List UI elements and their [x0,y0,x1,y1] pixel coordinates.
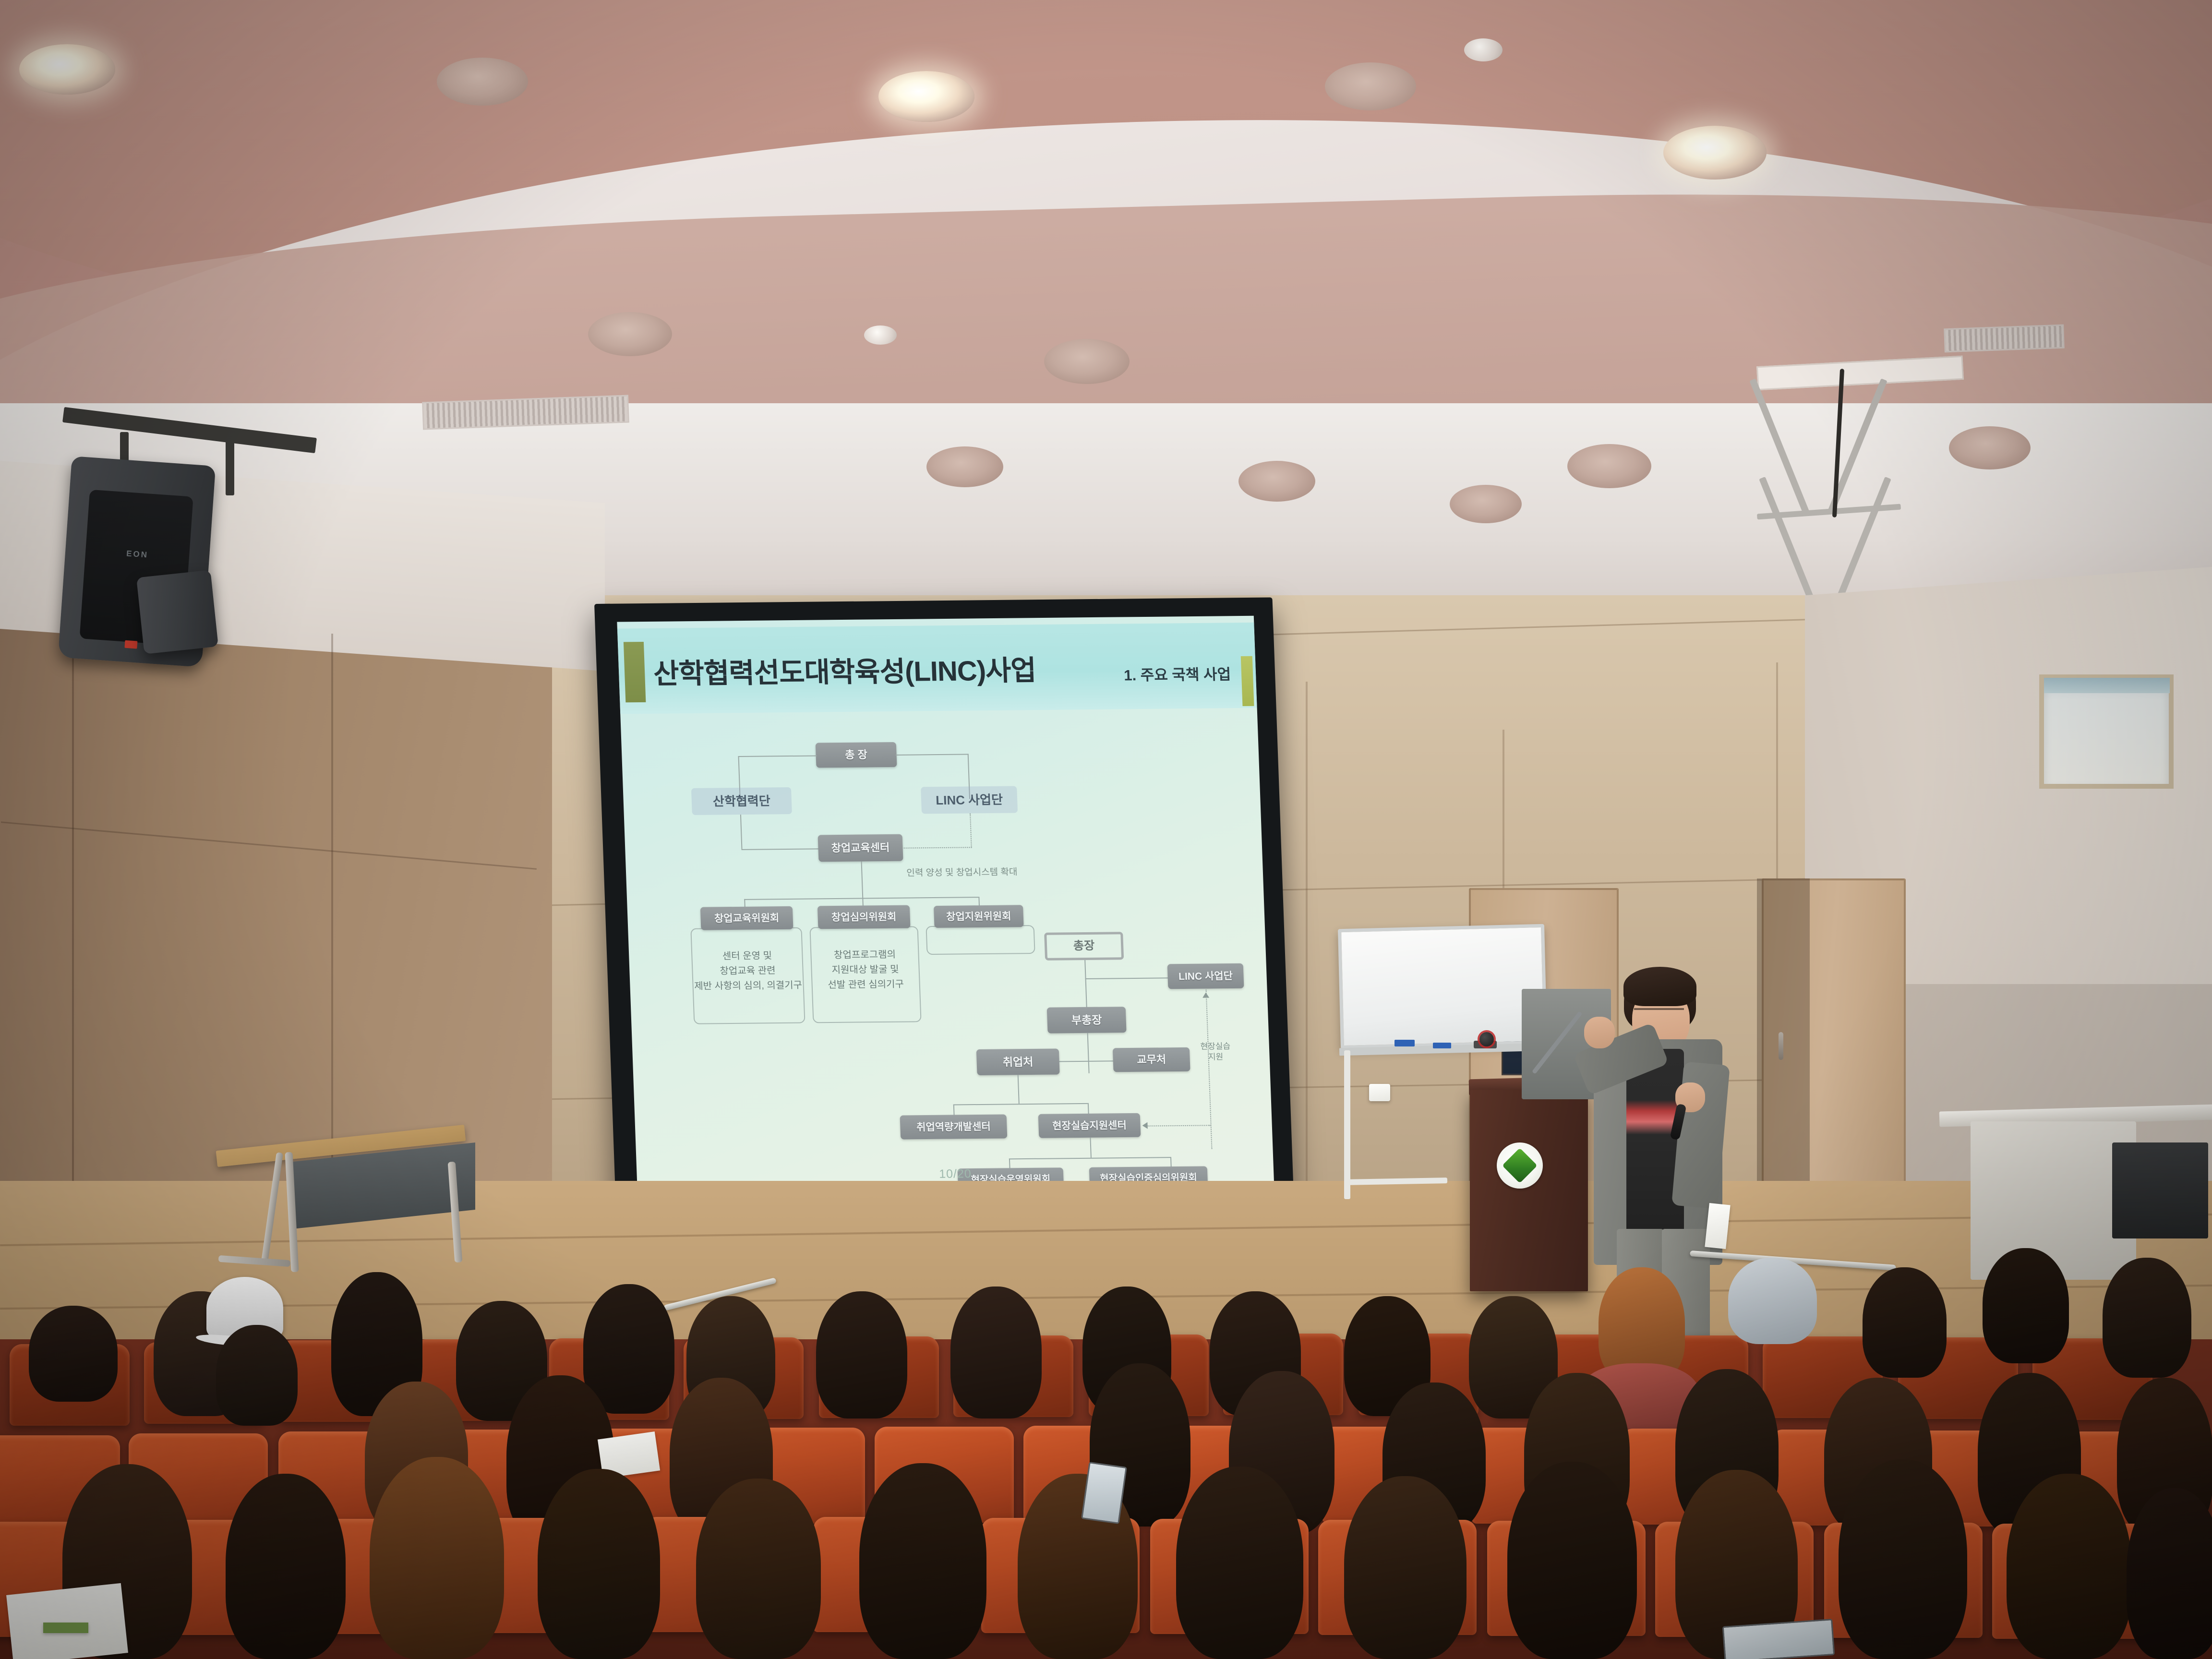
auditorium-photo: 산학협력선도대학육성(LINC)사업 1. 주요 국책 사업 총 장 산학협력단… [0,0,2212,1659]
audience-head [1507,1462,1637,1659]
org-node-startup-support-committee: 창업지원위원회 [934,905,1024,928]
ceiling-downlight-icon [1450,485,1522,523]
ceiling-downlight-icon [1949,426,2031,469]
org2-connector [1018,1075,1020,1104]
audience-head [1344,1476,1467,1659]
org-connector [741,848,819,850]
whiteboard-marker-icon[interactable] [1433,1043,1451,1048]
whiteboard-caster-icon [1339,1195,1352,1208]
presenter-hair-top [1623,967,1696,1006]
audience-handout-mark [43,1623,88,1633]
audience-head [2103,1258,2191,1378]
org-node-linc-group: LINC 사업단 [921,786,1018,814]
audience-head [696,1479,821,1659]
door-handle-icon[interactable] [1779,1032,1783,1060]
org2-dotted-connector [1147,1125,1211,1126]
air-vent-icon [1944,325,2065,353]
org2-connector [1087,1033,1090,1073]
org2-node-academic-office: 교무처 [1113,1047,1190,1072]
whiteboard-stand-leg [1344,1050,1350,1199]
audience-head [1983,1248,2069,1363]
org-connector [896,754,969,755]
org-desc-review-text: 창업프로그램의 지원대상 발굴 및 선발 관련 심의기구 [809,926,921,1023]
audience-head [583,1284,674,1414]
org-connector [740,815,743,849]
slide-subtitle: 1. 주요 국책 사업 [1123,662,1231,685]
whiteboard[interactable] [1338,924,1547,1049]
org-connector [861,861,864,898]
control-room-window-blind [2044,678,2170,693]
speaker-brand-label: EON [126,549,148,560]
ceiling-downlight-icon [1325,62,1416,110]
title-accent-right [1241,656,1254,706]
audience-head [816,1291,907,1419]
ceiling-downlight-icon [926,446,1003,487]
org2-note-field-training: 현장실습 지원 [1193,1041,1238,1063]
left-wall-seam [72,595,74,1238]
slide-page-number: 10/20 [939,1167,972,1181]
org-node-startup-edu-center: 창업교육센터 [818,834,903,862]
org2-arrow-left-icon [1142,1122,1148,1129]
ceiling-downlight-icon [588,312,672,356]
org2-node-vice-president: 부총장 [1047,1007,1127,1034]
org-connector [738,755,817,757]
audience-head [1839,1459,1967,1659]
speaker-logo-icon [124,640,137,649]
microphone-head-icon [1479,1032,1494,1046]
audience-head [1176,1467,1303,1659]
audience-head [29,1306,118,1402]
presentation-slide: 산학협력선도대학육성(LINC)사업 1. 주요 국책 사업 총 장 산학협력단… [617,616,1274,1191]
audience-handout [6,1583,128,1659]
ceiling-downlight-icon [1663,126,1767,180]
control-desk-monitor [2112,1142,2208,1238]
audience-head [2127,1488,2212,1659]
org2-connector [953,1103,1088,1106]
audience-head [216,1325,298,1426]
podium [1470,1090,1588,1291]
table-caster-icon [379,1243,392,1256]
audience-head [2007,1474,2131,1659]
audience-phone[interactable] [1081,1462,1127,1524]
smoke-detector-icon [1464,38,1503,61]
audience-head [370,1457,504,1659]
wall-switch-plate[interactable] [1369,1084,1390,1101]
org-node-startup-edu-committee: 창업교육위원회 [700,906,793,930]
audience-head [950,1286,1042,1419]
org-node-startup-review-committee: 창업심의위원회 [817,905,911,929]
org-connector [744,897,978,900]
university-emblem-icon [1497,1142,1543,1189]
table-caster-icon [458,1253,471,1265]
speaker-mount-post [226,438,234,495]
ceiling-downlight-icon [878,71,974,122]
org-dotted-connector [970,813,972,848]
audience-head [538,1469,660,1659]
org2-connector [1090,1138,1092,1158]
ceiling-downlight-icon [437,58,528,106]
projection-screen: 산학협력선도대학육성(LINC)사업 1. 주요 국책 사업 총 장 산학협력단… [594,597,1294,1209]
audience-tablet[interactable] [1722,1619,1835,1659]
org2-node-linc-group: LINC 사업단 [1167,963,1244,989]
ceiling-downlight-icon [19,44,115,95]
pa-speaker-secondary [136,570,218,654]
slide-title: 산학협력선도대학육성(LINC)사업 [653,648,1037,692]
audience-head [1728,1258,1817,1344]
org-node-president: 총 장 [816,742,897,768]
presenter-glasses-icon [1634,1008,1684,1013]
audience-head [1863,1267,1947,1378]
org2-arrow-up-icon [1202,992,1209,998]
title-accent-left [624,642,646,702]
org2-node-president: 총장 [1044,932,1124,961]
stage-door-right[interactable] [1762,878,1906,1195]
org-node-industry-coop: 산학협력단 [691,787,792,815]
whiteboard-marker-icon[interactable] [1395,1040,1415,1046]
org2-node-career-dev-center: 취업역량개발센터 [900,1114,1008,1139]
left-wall-seam [331,634,333,1248]
org-note-manpower: 인력 양성 및 창업시스템 확대 [906,865,1018,878]
org-dotted-connector [904,847,972,848]
smoke-detector-icon [864,325,897,345]
audience-head [226,1474,346,1659]
presenter-hand-raised [1584,1017,1615,1048]
org2-connector [1009,1157,1170,1159]
ceiling-downlight-icon [1044,339,1130,384]
org-desc-box-support [926,925,1035,955]
ceiling-downlight-icon [1567,444,1651,488]
control-desk-body [1971,1121,2136,1280]
table-caster-icon [317,1267,329,1280]
org2-node-field-training-center: 현장실습지원센터 [1038,1113,1141,1138]
audience-head [859,1463,986,1659]
ceiling-downlight-icon [1238,461,1315,502]
org-desc-edu-text: 센터 운영 및 창업교육 관련 제반 사항의 심의, 의결기구 [690,927,805,1024]
org2-node-career-office: 취업처 [976,1048,1060,1075]
